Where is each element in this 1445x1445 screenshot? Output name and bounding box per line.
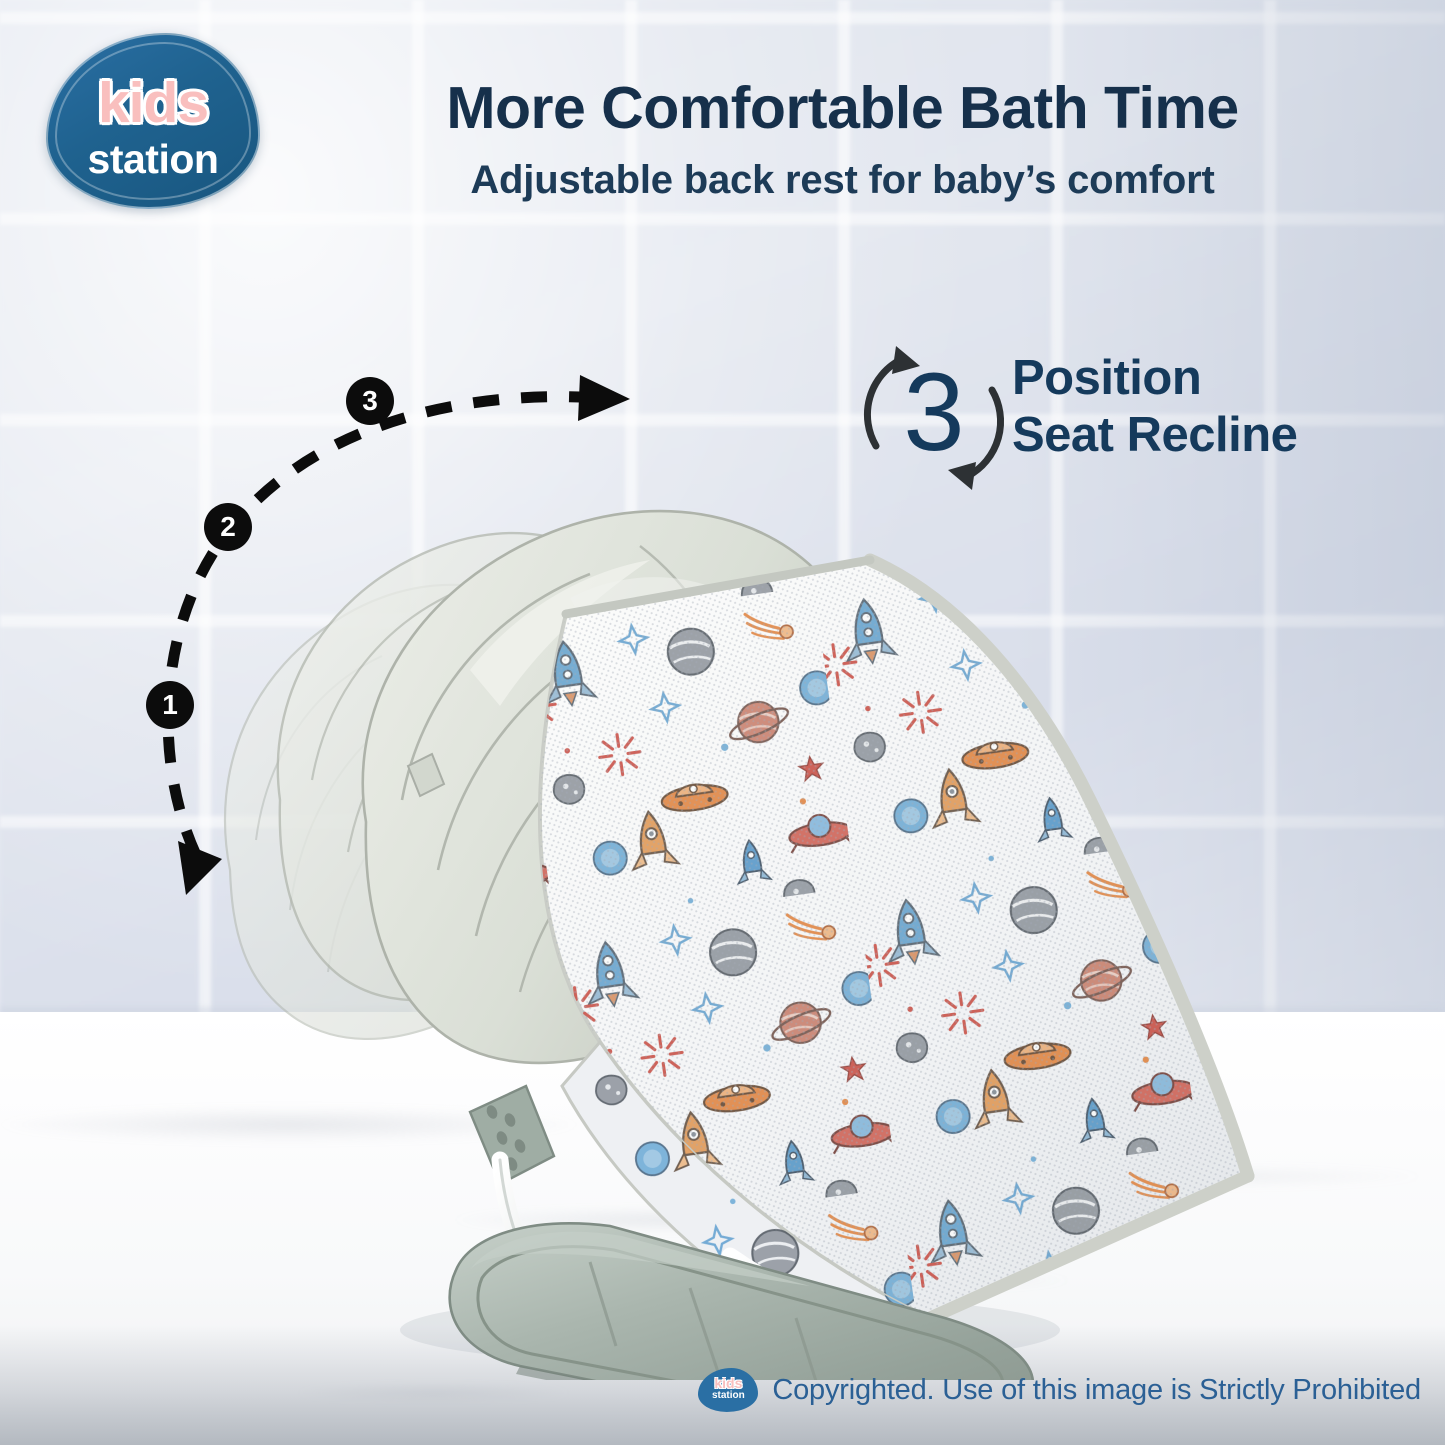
copyright-footer: kids station Copyrighted. Use of this im…: [0, 1335, 1445, 1445]
page-subtitle: Adjustable back rest for baby’s comfort: [300, 158, 1385, 203]
recline-badge-text: Position Seat Recline: [1012, 350, 1297, 465]
footer-brand-logo: kids station: [698, 1368, 758, 1412]
recline-count-number: 3: [850, 358, 1018, 468]
recline-feature-badge: 3 Position Seat Recline: [850, 336, 1370, 506]
brand-logo: kids station: [46, 33, 260, 209]
recline-badge-line2: Seat Recline: [1012, 407, 1297, 464]
logo-text-station: station: [46, 139, 260, 180]
footer-logo-text-station: station: [698, 1391, 758, 1401]
page-title: More Comfortable Bath Time: [300, 78, 1385, 140]
logo-text-kids: kids: [46, 75, 260, 132]
product-infographic-canvas: kids station More Comfortable Bath Time …: [0, 0, 1445, 1445]
recline-badge-line1: Position: [1012, 350, 1297, 407]
product-image-baby-bath-seat: [170, 370, 1330, 1380]
rotation-arrows-icon: 3: [850, 338, 1018, 498]
footer-logo-text-kids: kids: [698, 1376, 758, 1390]
copyright-notice: Copyrighted. Use of this image is Strict…: [772, 1374, 1421, 1407]
